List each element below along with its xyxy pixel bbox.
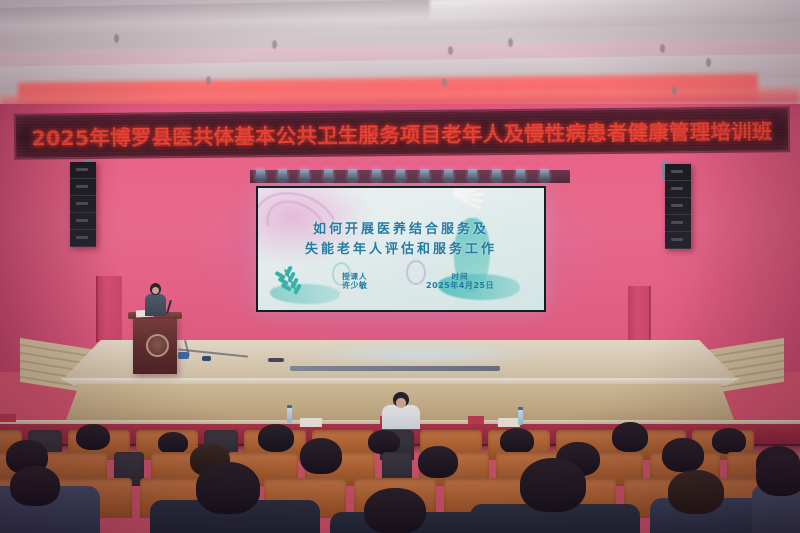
audience-head <box>756 454 800 496</box>
water-bottle-cap <box>287 405 292 408</box>
led-banner-text: 2025年博罗县医共体基本公共卫生服务项目老年人及慢性病患者健康管理培训班 <box>31 114 772 151</box>
slide-decoration-ring <box>406 260 426 285</box>
audience-head <box>258 424 294 452</box>
podium-emblem-icon <box>146 334 169 357</box>
ceiling-downlight <box>448 46 453 55</box>
speaker-cell <box>665 232 691 249</box>
stage-light <box>492 169 501 181</box>
stage-light <box>348 169 357 181</box>
auditorium-photo: 2025年博罗县医共体基本公共卫生服务项目老年人及慢性病患者健康管理培训班 <box>0 0 800 533</box>
desk-folder <box>0 414 16 422</box>
stage-light <box>324 169 333 181</box>
stage-door-left <box>96 276 122 342</box>
speaker-cell <box>665 181 691 198</box>
stage-light <box>396 169 405 181</box>
audience-head <box>368 430 400 454</box>
audience-head <box>76 424 110 450</box>
ceiling-downlight <box>706 58 711 67</box>
audience-head <box>612 422 648 452</box>
ceiling-downlight <box>442 78 447 87</box>
desk-folder <box>468 416 484 424</box>
ceiling-downlight <box>672 86 677 95</box>
slide-title-line-2: 失能老年人评估和服务工作 <box>258 238 544 257</box>
slide-presenter-label: 授课人 <box>342 272 368 281</box>
line-array-speaker-right <box>665 164 691 249</box>
stage-light-pool <box>300 343 540 365</box>
slide-decoration-teal-brush <box>270 284 340 304</box>
audience-head <box>418 446 458 478</box>
speaker-cell <box>70 162 96 179</box>
stage-floor-object <box>178 352 189 359</box>
stage-floor-object <box>202 356 211 361</box>
speaker-cell <box>665 164 691 181</box>
water-bottle <box>287 408 292 423</box>
presenter-body <box>145 294 166 316</box>
speaker-cell <box>70 179 96 196</box>
presenter-face <box>152 287 159 294</box>
seated-person-body <box>382 405 420 429</box>
stage-light <box>278 169 287 181</box>
speaker-cell <box>70 196 96 213</box>
line-array-speaker-left <box>70 162 96 247</box>
audience-head <box>520 458 586 512</box>
audience-head <box>364 488 426 533</box>
desk-paper <box>300 418 322 427</box>
stage-light <box>444 169 453 181</box>
audience-head <box>668 470 724 514</box>
slide-presenter-block: 授课人 许少敏 <box>342 272 368 291</box>
desk-paper <box>498 418 520 427</box>
presentation-slide: 如何开展医养结合服务及 失能老年人评估和服务工作 授课人 许少敏 时间 2025… <box>258 188 544 310</box>
stage-light <box>540 169 549 181</box>
ceiling-downlight <box>206 76 211 85</box>
speaker-cell <box>665 198 691 215</box>
seated-person-face <box>396 398 406 408</box>
speaker-cell <box>665 215 691 232</box>
slide-date-value: 2025年4月25日 <box>426 281 494 291</box>
stage-light <box>516 169 525 181</box>
ceiling-downlight <box>272 40 277 49</box>
stage-light <box>468 169 477 181</box>
ceiling-downlight <box>660 44 665 53</box>
slide-presenter-name: 许少敏 <box>342 281 368 291</box>
audience-head <box>196 462 260 514</box>
audience-head <box>500 428 534 454</box>
door-frame-line <box>96 276 98 342</box>
audience-head <box>712 428 746 454</box>
water-bottle <box>518 410 523 425</box>
audience-head <box>158 432 188 454</box>
audience-head <box>300 438 342 474</box>
ceiling-downlight <box>508 38 513 47</box>
stage-light <box>372 169 381 181</box>
led-banner: 2025年博罗县医共体基本公共卫生服务项目老年人及慢性病患者健康管理培训班 <box>14 106 790 159</box>
ceiling-downlight <box>114 34 119 43</box>
audience-head <box>10 466 60 506</box>
slide-date-block: 时间 2025年4月25日 <box>426 272 494 291</box>
audience-head <box>662 438 704 472</box>
stage-door-right <box>628 286 650 344</box>
stage-floor-cable-run <box>290 366 500 371</box>
stage-light <box>256 169 265 181</box>
stage-light <box>300 169 309 181</box>
stage-floor-object <box>268 358 284 362</box>
door-frame-line <box>649 286 651 344</box>
water-bottle-cap <box>518 407 523 410</box>
speaker-cell <box>70 213 96 230</box>
stage-light <box>420 169 429 181</box>
speaker-cell <box>70 230 96 247</box>
projection-screen: 如何开展医养结合服务及 失能老年人评估和服务工作 授课人 许少敏 时间 2025… <box>256 186 546 312</box>
slide-title-line-1: 如何开展医养结合服务及 <box>258 218 544 237</box>
slide-date-label: 时间 <box>426 272 494 281</box>
